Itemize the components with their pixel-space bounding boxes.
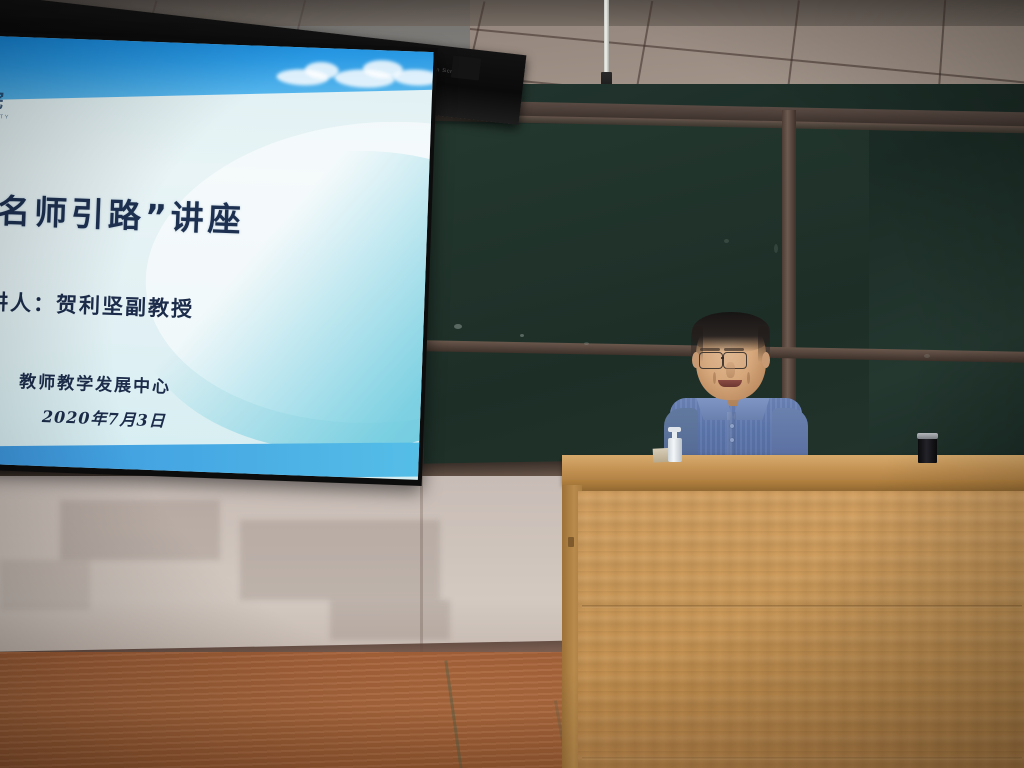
- blackboard-chalk-mark: [774, 244, 778, 253]
- blackboard-chalk-mark: [924, 354, 930, 358]
- blackboard-chalk-mark: [724, 239, 729, 243]
- eyeglasses-bridge: [721, 357, 724, 359]
- wall-stain: [330, 600, 450, 640]
- speaker-smile-line-left: [713, 372, 716, 384]
- university-logo: 学院 UNIVERSITY: [0, 83, 82, 123]
- hand-sanitizer-pump: [668, 427, 681, 432]
- university-logo-chinese: 学院: [0, 83, 83, 116]
- thermos-flask: [918, 437, 937, 463]
- lecture-hall-photo: Projection Screen 学院 UNIVERSITY “名师引路”讲座…: [0, 0, 1024, 768]
- speaker-smile-line-right: [747, 372, 750, 384]
- hand-sanitizer-bottle: [668, 438, 682, 462]
- eyeglasses-lens-left: [699, 352, 723, 369]
- blackboard-chalk-mark: [584, 342, 589, 345]
- speaker-mouth: [718, 380, 742, 387]
- podium-panel-divider: [582, 757, 1022, 760]
- speaker-nose: [726, 362, 735, 378]
- floor: [0, 652, 600, 768]
- speaker-eyebrow-left: [700, 348, 720, 351]
- wall-stain: [0, 560, 90, 610]
- wall-stain: [60, 500, 220, 560]
- blackboard-chalk-mark: [520, 334, 524, 337]
- projection-screen-housing-end-cap: [451, 55, 481, 80]
- speaker-shirt-button: [730, 438, 734, 442]
- speaker-ear-right: [762, 352, 770, 368]
- speaker-shirt-button: [730, 424, 734, 428]
- ceiling-hanging-pole: [604, 0, 609, 78]
- speaker-shirt-placket: [727, 412, 736, 458]
- wooden-podium: [562, 455, 1024, 768]
- projection-screen: 学院 UNIVERSITY “名师引路”讲座 主讲人：贺利坚副教授 教师教学发展…: [0, 32, 438, 488]
- podium-front-panel: [578, 491, 1024, 768]
- speaker-eyebrow-right: [724, 348, 744, 351]
- podium-hinge: [568, 537, 574, 547]
- thermos-flask-cap: [917, 433, 938, 439]
- podium-panel-divider: [582, 605, 1022, 608]
- speaker-person: [660, 312, 810, 462]
- blackboard-chalk-mark: [454, 324, 462, 329]
- wall-stain: [240, 520, 440, 600]
- presentation-slide: 学院 UNIVERSITY “名师引路”讲座 主讲人：贺利坚副教授 教师教学发展…: [0, 36, 434, 480]
